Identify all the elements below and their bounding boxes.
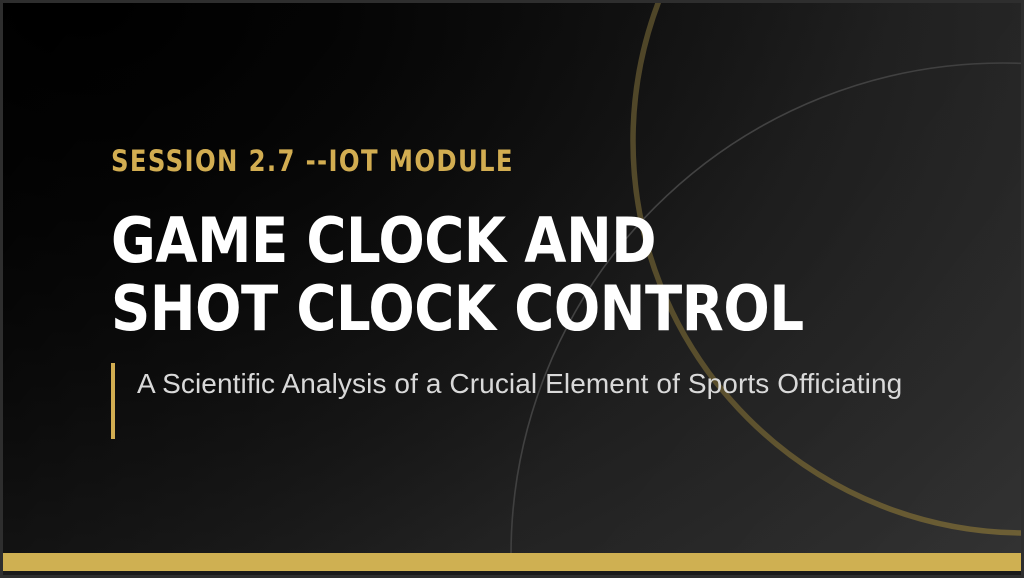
subtitle-accent-bar xyxy=(111,363,115,439)
bottom-edge-shadow xyxy=(3,571,1021,575)
subtitle-block: A Scientific Analysis of a Crucial Eleme… xyxy=(111,363,927,439)
title-line-1: GAME CLOCK AND xyxy=(111,207,850,275)
subtitle-text: A Scientific Analysis of a Crucial Eleme… xyxy=(137,363,927,439)
title-slide: SESSION 2.7 --IOT MODULE GAME CLOCK AND … xyxy=(0,0,1024,578)
title-line-2: SHOT CLOCK CONTROL xyxy=(111,275,850,343)
slide-title: GAME CLOCK AND SHOT CLOCK CONTROL xyxy=(111,207,951,343)
session-eyebrow: SESSION 2.7 --IOT MODULE xyxy=(111,147,514,176)
bottom-accent-bar xyxy=(3,553,1021,571)
